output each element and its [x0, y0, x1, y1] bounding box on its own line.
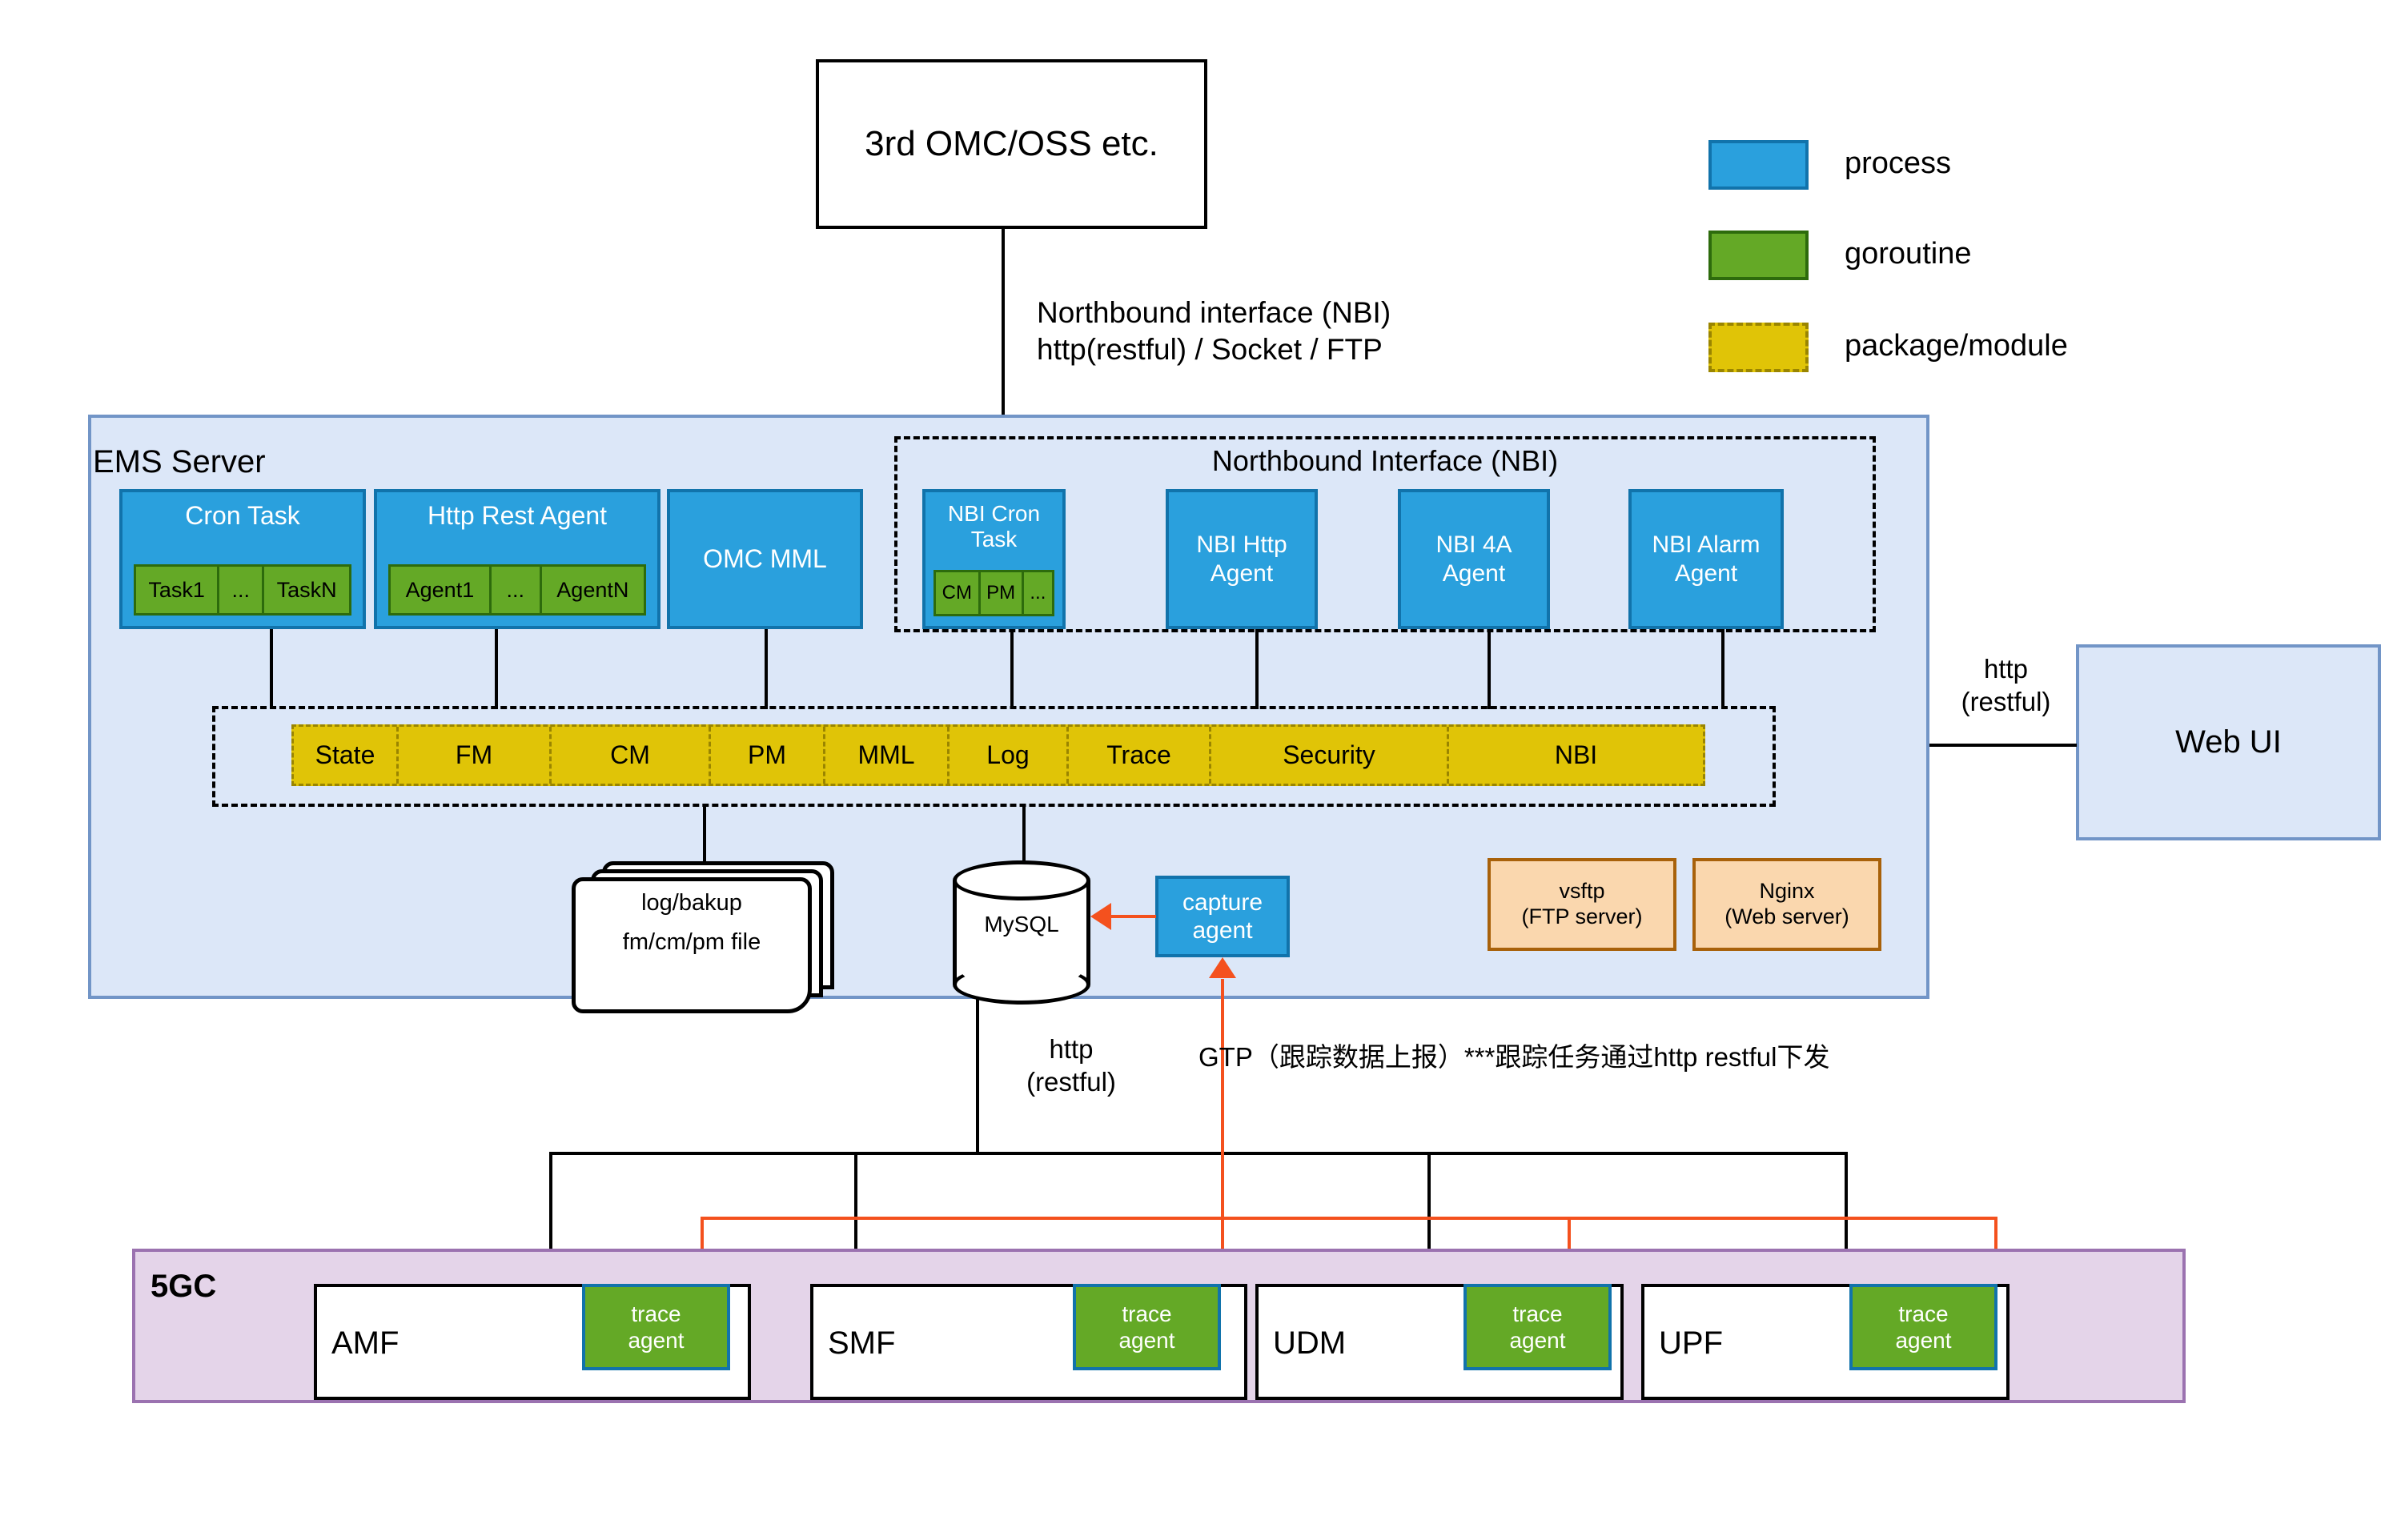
legend: process goroutine package/module [1708, 140, 2269, 388]
nbi-connector-label: Northbound interface (NBI) http(restful)… [1037, 295, 1565, 369]
architecture-diagram: 3rd OMC/OSS etc. Northbound interface (N… [0, 0, 2405, 1540]
legend-label-goroutine: goroutine [1845, 237, 1971, 271]
connector-nbi-http-agent-to-modules [1255, 629, 1259, 709]
capture-agent-label-line2: agent [1192, 916, 1252, 944]
web-ui-box[interactable]: Web UI [2076, 644, 2381, 840]
core-http-label-line1: http [999, 1033, 1143, 1065]
process-capture-agent[interactable]: capture agent [1155, 876, 1290, 957]
process-nbi-4a-agent-title-line2: Agent [1443, 559, 1505, 588]
goroutine-cell[interactable]: CM [936, 572, 981, 614]
web-ui-label: Web UI [2175, 724, 2282, 761]
trace-agent-udm-line1: trace [1512, 1301, 1562, 1327]
goroutine-cell[interactable]: PM [981, 572, 1024, 614]
trace-agent-smf-line1: trace [1122, 1301, 1171, 1327]
process-cron-task-title: Cron Task [122, 501, 363, 531]
goroutine-cell[interactable]: Agent1 [391, 567, 492, 613]
web-ui-http-label: http (restful) [1936, 652, 2076, 719]
web-ui-http-label-line2: (restful) [1936, 685, 2076, 718]
trace-agent-udm[interactable]: trace agent [1463, 1284, 1612, 1370]
module-fm[interactable]: FM [399, 727, 552, 784]
module-log[interactable]: Log [950, 727, 1069, 784]
trace-agent-upf-line2: agent [1895, 1327, 1951, 1354]
ems-server-title: EMS Server [93, 444, 266, 480]
trace-agent-upf[interactable]: trace agent [1849, 1284, 1997, 1370]
legend-label-process: process [1845, 146, 1951, 181]
core-black-bus [549, 1152, 1848, 1155]
arrow-capture-to-database [1090, 903, 1111, 930]
server-vsftp: vsftp (FTP server) [1488, 858, 1676, 951]
connector-ems-to-core-trunk [976, 999, 979, 1155]
file-stack-label-line2: fm/cm/pm file [572, 929, 812, 956]
connector-cron-task-to-modules [270, 629, 273, 709]
goroutine-cell[interactable]: ... [492, 567, 542, 613]
connector-ems-to-web-ui [1929, 744, 2077, 747]
trace-agent-smf[interactable]: trace agent [1073, 1284, 1221, 1370]
web-ui-http-label-line1: http [1936, 652, 2076, 685]
process-nbi-alarm-agent-title-line1: NBI Alarm [1652, 531, 1760, 559]
process-nbi-alarm-agent[interactable]: NBI Alarm Agent [1628, 489, 1784, 629]
trace-agent-amf-line2: agent [628, 1327, 684, 1354]
server-vsftp-line2: (FTP server) [1521, 904, 1642, 930]
database-cylinder-top [953, 860, 1090, 900]
connector-capture-to-database [1111, 915, 1156, 918]
file-stack-label: log/bakup fm/cm/pm file [572, 890, 812, 956]
core-http-label-line2: (restful) [999, 1065, 1143, 1098]
process-nbi-alarm-agent-title-line2: Agent [1675, 559, 1737, 588]
goroutine-group-http-rest-agent: Agent1 ... AgentN [388, 564, 646, 616]
legend-swatch-package [1708, 323, 1809, 372]
connector-omc-mml-to-modules [765, 629, 768, 709]
module-nbi[interactable]: NBI [1449, 727, 1703, 784]
nbi-connector-label-line2: http(restful) / Socket / FTP [1037, 331, 1565, 368]
server-nginx-line2: (Web server) [1724, 904, 1849, 930]
goroutine-cell[interactable]: TaskN [264, 567, 349, 613]
process-nbi-4a-agent[interactable]: NBI 4A Agent [1398, 489, 1550, 629]
process-http-rest-agent[interactable]: Http Rest Agent Agent1 ... AgentN [374, 489, 660, 629]
goroutine-cell[interactable]: AgentN [542, 567, 644, 613]
process-cron-task[interactable]: Cron Task Task1 ... TaskN [119, 489, 366, 629]
process-nbi-cron-task-title: NBI Cron Task [925, 501, 1062, 552]
process-nbi-cron-task[interactable]: NBI Cron Task CM PM ... [922, 489, 1066, 629]
goroutine-cell[interactable]: ... [1024, 572, 1052, 614]
connector-nbi-4a-agent-to-modules [1488, 629, 1491, 709]
legend-swatch-goroutine [1708, 231, 1809, 280]
legend-swatch-process [1708, 140, 1809, 190]
module-pm[interactable]: PM [711, 727, 825, 784]
server-nginx-line1: Nginx [1759, 879, 1814, 904]
gtp-note-label: GTP（跟踪数据上报）***跟踪任务通过http restful下发 [1198, 1041, 2015, 1073]
network-function-upf-label: UPF [1659, 1325, 1723, 1362]
modules-strip: State FM CM PM MML Log Trace Security NB… [291, 724, 1705, 786]
nbi-connector-label-line1: Northbound interface (NBI) [1037, 295, 1565, 331]
goroutine-cell[interactable]: Task1 [136, 567, 219, 613]
trace-agent-amf[interactable]: trace agent [582, 1284, 730, 1370]
core-network-title: 5GC [151, 1269, 216, 1305]
connector-nbi-alarm-agent-to-modules [1721, 629, 1724, 709]
file-stack-label-line1: log/bakup [572, 890, 812, 916]
trace-agent-smf-line2: agent [1118, 1327, 1174, 1354]
capture-agent-label-line1: capture [1182, 888, 1263, 916]
database-cylinder-bottom [953, 965, 1090, 1005]
module-state[interactable]: State [294, 727, 399, 784]
process-http-rest-agent-title: Http Rest Agent [377, 501, 657, 531]
network-function-udm-label: UDM [1273, 1325, 1346, 1362]
process-nbi-http-agent-title-line1: NBI Http [1196, 531, 1287, 559]
process-omc-mml[interactable]: OMC MML [667, 489, 863, 629]
goroutine-group-nbi-cron-task: CM PM ... [933, 570, 1054, 616]
goroutine-cell[interactable]: ... [219, 567, 264, 613]
network-function-smf-label: SMF [828, 1325, 895, 1362]
module-security[interactable]: Security [1211, 727, 1449, 784]
module-mml[interactable]: MML [825, 727, 950, 784]
connector-gtp-riser [1221, 979, 1224, 1219]
goroutine-group-cron-task: Task1 ... TaskN [134, 564, 351, 616]
connector-http-rest-agent-to-modules [495, 629, 498, 709]
network-function-amf-label: AMF [331, 1325, 399, 1362]
nbi-group-title: Northbound Interface (NBI) [894, 444, 1876, 478]
external-omc-oss-box: 3rd OMC/OSS etc. [816, 59, 1207, 229]
module-cm[interactable]: CM [552, 727, 711, 784]
trace-agent-udm-line2: agent [1509, 1327, 1565, 1354]
process-nbi-4a-agent-title-line1: NBI 4A [1435, 531, 1512, 559]
external-omc-oss-label: 3rd OMC/OSS etc. [865, 123, 1158, 165]
arrow-gtp-to-capture-agent [1209, 957, 1236, 978]
legend-label-package: package/module [1845, 329, 2068, 363]
connector-nbi-cron-task-to-modules [1010, 629, 1014, 709]
trace-agent-amf-line1: trace [631, 1301, 681, 1327]
database-label: MySQL [953, 908, 1090, 940]
module-trace[interactable]: Trace [1069, 727, 1211, 784]
server-nginx: Nginx (Web server) [1692, 858, 1881, 951]
process-nbi-http-agent-title-line2: Agent [1211, 559, 1273, 588]
core-http-label: http (restful) [999, 1033, 1143, 1099]
process-nbi-http-agent[interactable]: NBI Http Agent [1166, 489, 1318, 629]
core-orange-bus [701, 1217, 1997, 1220]
trace-agent-upf-line1: trace [1898, 1301, 1948, 1327]
server-vsftp-line1: vsftp [1559, 879, 1604, 904]
process-omc-mml-title: OMC MML [703, 544, 827, 575]
connector-omc-to-ems [1002, 229, 1005, 416]
